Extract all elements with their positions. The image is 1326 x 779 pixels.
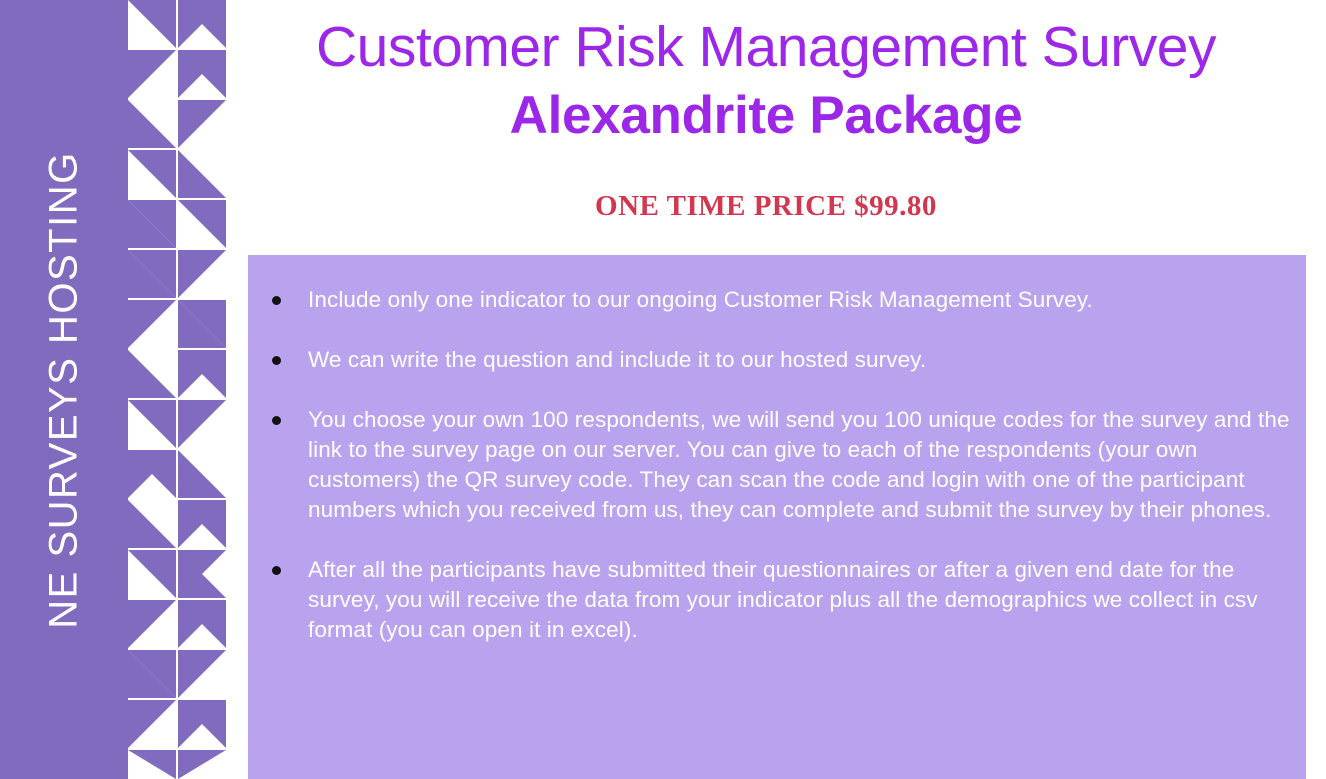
list-item-text: We can write the question and include it… xyxy=(308,347,926,372)
left-brand-rail: NE SURVEYS HOSTING xyxy=(0,0,128,779)
geometric-pattern-strip xyxy=(128,0,226,779)
vertical-brand-label: NE SURVEYS HOSTING xyxy=(42,151,87,628)
price-label: ONE TIME PRICE $99.80 xyxy=(226,190,1306,223)
list-item: You choose your own 100 respondents, we … xyxy=(260,405,1300,525)
features-panel: Include only one indicator to our ongoin… xyxy=(248,255,1306,779)
page-title-primary: Customer Risk Management Survey xyxy=(226,18,1306,78)
bullet-icon xyxy=(272,416,281,425)
list-item: After all the participants have submitte… xyxy=(260,555,1300,645)
list-item-text: You choose your own 100 respondents, we … xyxy=(308,407,1290,522)
list-item: Include only one indicator to our ongoin… xyxy=(260,285,1300,315)
bullet-icon xyxy=(272,356,281,365)
page-title-package: Alexandrite Package xyxy=(226,88,1306,144)
triangle-pattern-svg xyxy=(128,0,226,779)
list-item-text: After all the participants have submitte… xyxy=(308,557,1258,642)
bullet-icon xyxy=(272,566,281,575)
feature-list: Include only one indicator to our ongoin… xyxy=(260,285,1300,645)
list-item: We can write the question and include it… xyxy=(260,345,1300,375)
page-header: Customer Risk Management Survey Alexandr… xyxy=(226,0,1326,250)
bullet-icon xyxy=(272,296,281,305)
list-item-text: Include only one indicator to our ongoin… xyxy=(308,287,1093,312)
